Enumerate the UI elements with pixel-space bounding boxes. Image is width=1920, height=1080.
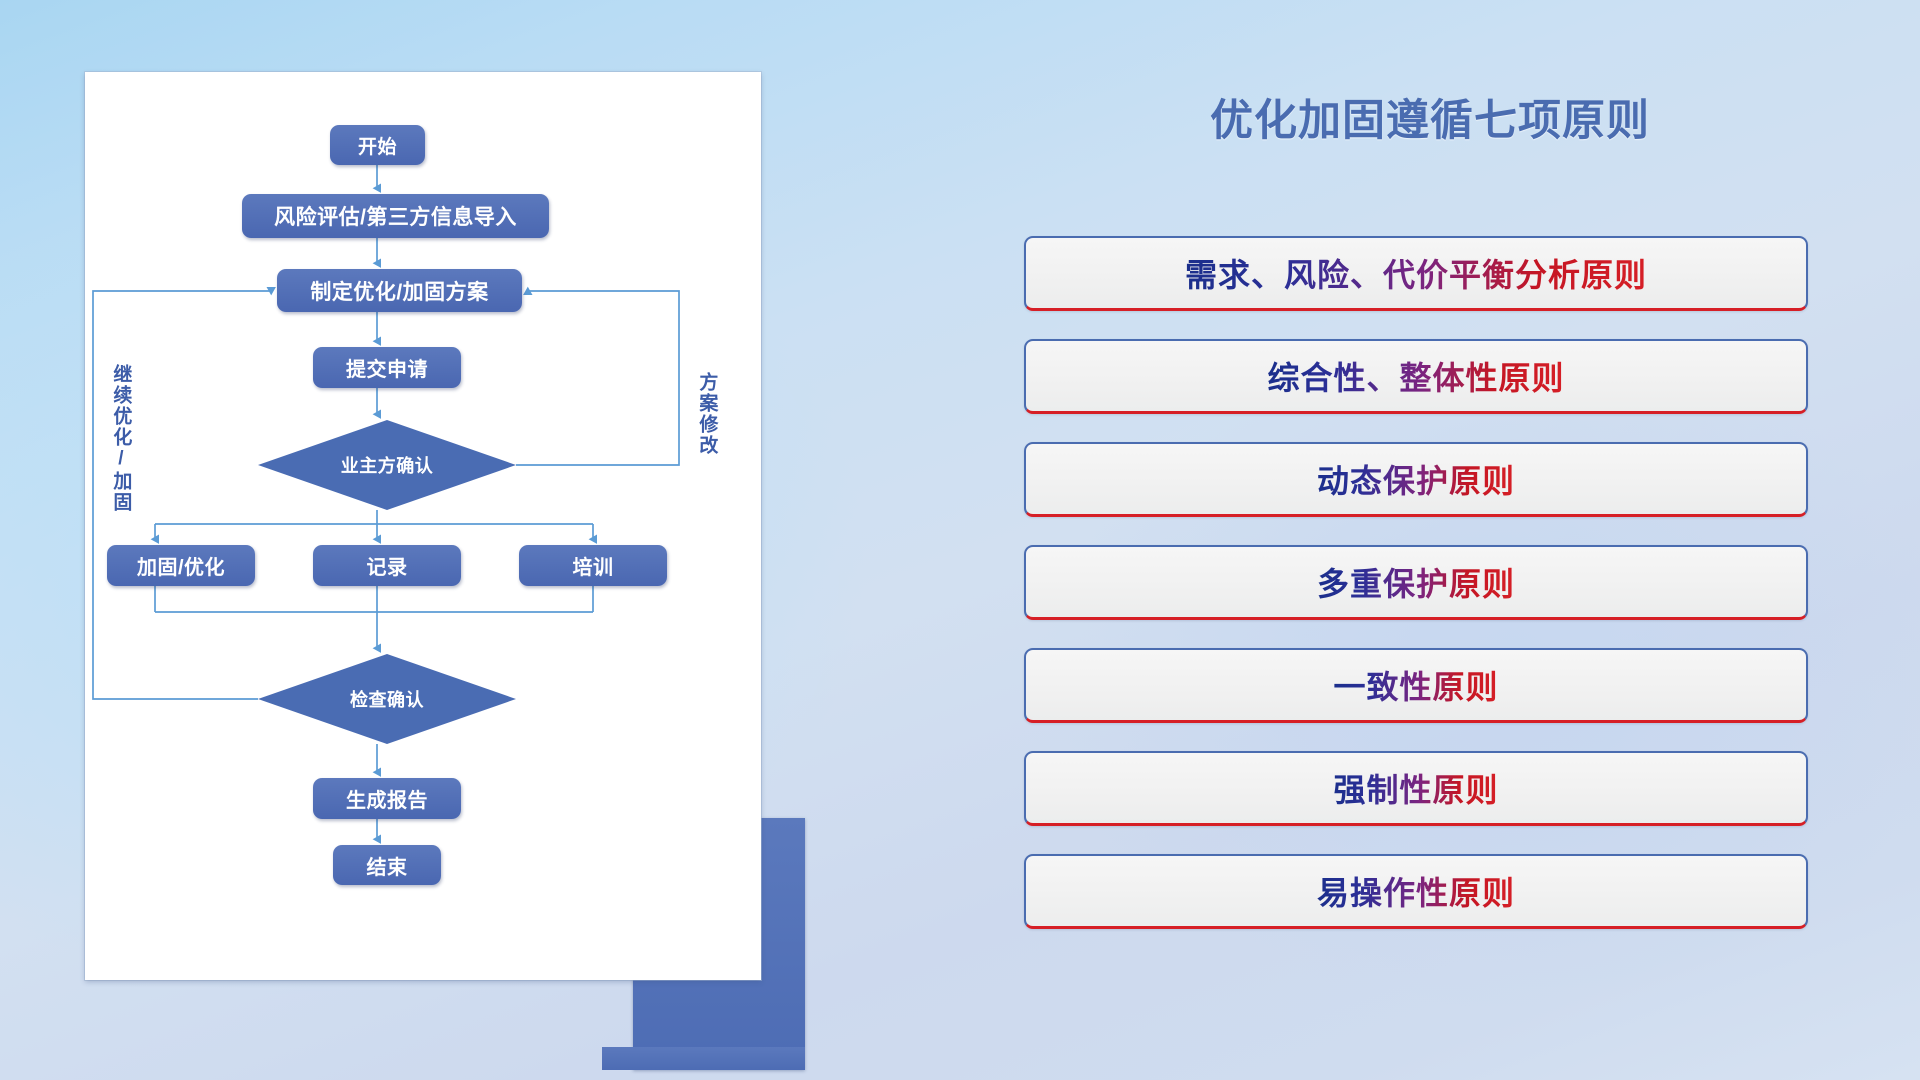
flow-node-generate-report[interactable]: 生成报告: [313, 778, 461, 819]
flow-node-label: 业主方确认: [341, 452, 434, 478]
principle-item[interactable]: 强制性原则: [1024, 751, 1808, 826]
flow-edge-label-plan-revision: 方案修改: [697, 372, 716, 456]
flow-edge-label-continue-optimize: 继续优化/加固: [111, 364, 130, 513]
flow-node-label: 生成报告: [346, 784, 428, 813]
principle-label: 综合性、整体性原则: [1267, 353, 1564, 399]
principle-item[interactable]: 需求、风险、代价平衡分析原则: [1024, 236, 1808, 311]
flow-node-label: 制定优化/加固方案: [310, 276, 488, 306]
flow-node-label: 开始: [358, 132, 397, 159]
flow-node-label: 记录: [367, 551, 408, 580]
flow-node-label: 结束: [367, 851, 408, 880]
flow-node-label: 风险评估/第三方信息导入: [274, 201, 517, 231]
flow-node-reinforce-optimize[interactable]: 加固/优化: [107, 545, 255, 586]
flow-node-label: 提交申请: [346, 353, 428, 382]
principle-label: 一致性原则: [1333, 662, 1498, 708]
flow-node-training[interactable]: 培训: [519, 545, 667, 586]
principle-item[interactable]: 综合性、整体性原则: [1024, 339, 1808, 414]
flowchart-card: 开始 风险评估/第三方信息导入 制定优化/加固方案 提交申请 业主方确认 加固/…: [85, 72, 761, 980]
principles-panel: 优化加固遵循七项原则 需求、风险、代价平衡分析原则 综合性、整体性原则 动态保护…: [1020, 86, 1840, 1006]
principle-item[interactable]: 易操作性原则: [1024, 854, 1808, 929]
flow-node-record[interactable]: 记录: [313, 545, 461, 586]
flow-node-make-plan[interactable]: 制定优化/加固方案: [277, 269, 522, 312]
flow-edge-label-text: 方案修改: [696, 372, 717, 456]
decorative-accent-bar-horizontal: [602, 1047, 805, 1070]
flow-node-end[interactable]: 结束: [333, 845, 441, 885]
flow-node-inspection-confirm[interactable]: 检查确认: [258, 654, 516, 744]
principle-item[interactable]: 动态保护原则: [1024, 442, 1808, 517]
principle-item[interactable]: 一致性原则: [1024, 648, 1808, 723]
flow-node-start[interactable]: 开始: [330, 125, 425, 165]
flow-node-label: 培训: [573, 551, 614, 580]
principle-label: 动态保护原则: [1317, 456, 1515, 502]
principle-label: 强制性原则: [1333, 765, 1498, 811]
flow-node-label: 加固/优化: [137, 551, 225, 580]
flowchart-panel: 开始 风险评估/第三方信息导入 制定优化/加固方案 提交申请 业主方确认 加固/…: [85, 72, 791, 980]
flow-node-label: 检查确认: [350, 686, 424, 712]
principle-label: 易操作性原则: [1317, 868, 1515, 914]
principle-label: 多重保护原则: [1317, 559, 1515, 605]
panel-title: 优化加固遵循七项原则: [1020, 86, 1840, 148]
flow-node-risk-assessment[interactable]: 风险评估/第三方信息导入: [242, 194, 549, 238]
flow-node-owner-confirm[interactable]: 业主方确认: [258, 420, 516, 510]
flow-node-submit-application[interactable]: 提交申请: [313, 347, 461, 388]
principle-item[interactable]: 多重保护原则: [1024, 545, 1808, 620]
flow-edge-label-text: 继续优化/加固: [110, 364, 131, 513]
principle-label: 需求、风险、代价平衡分析原则: [1185, 250, 1647, 296]
